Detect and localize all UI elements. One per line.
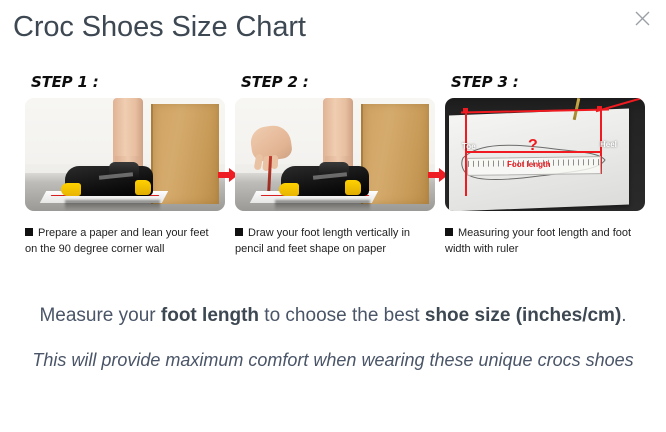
step-2-caption: Draw your foot length vertically in penc… <box>235 225 433 257</box>
steps-row: STEP 1 : Prepare a paper and lean your f… <box>0 72 666 292</box>
summary-bold-foot-length: foot length <box>161 305 259 326</box>
step-3-label: STEP 3 : <box>451 72 645 92</box>
label-heel: Heel <box>600 140 617 149</box>
step-3-caption: Measuring your foot length and foot widt… <box>445 225 643 257</box>
note-line: This will provide maximum comfort when w… <box>0 345 666 375</box>
summary-part-3: . <box>621 305 626 326</box>
bullet-icon <box>235 228 243 236</box>
step-2-caption-text: Draw your foot length vertically in penc… <box>235 227 410 255</box>
page-title: Croc Shoes Size Chart <box>13 11 306 44</box>
summary-part-1: Measure your <box>39 305 160 326</box>
step-1-label: STEP 1 : <box>31 72 225 92</box>
bullet-icon <box>445 228 453 236</box>
step-1-caption: Prepare a paper and lean your feet on th… <box>25 225 223 257</box>
step-3-photo: Toe Heel ? Foot length <box>445 98 645 211</box>
summary-line: Measure your foot length to choose the b… <box>0 305 666 327</box>
label-toe: Toe <box>462 142 476 151</box>
summary-bold-shoe-size: shoe size (inches/cm) <box>425 305 621 326</box>
step-1-caption-text: Prepare a paper and lean your feet on th… <box>25 227 209 255</box>
step-2-photo <box>235 98 435 211</box>
label-foot-length: Foot length <box>507 160 551 169</box>
step-1-photo <box>25 98 225 211</box>
label-question: ? <box>528 138 538 154</box>
step-3: STEP 3 : Toe Heel ? Foot length Measurin… <box>445 72 645 257</box>
modal-header: Croc Shoes Size Chart <box>0 0 666 62</box>
summary-part-2: to choose the best <box>259 305 425 326</box>
step-3-caption-text: Measuring your foot length and foot widt… <box>445 227 631 255</box>
bullet-icon <box>25 228 33 236</box>
step-1: STEP 1 : Prepare a paper and lean your f… <box>25 72 225 257</box>
close-icon <box>634 10 651 27</box>
step-2-label: STEP 2 : <box>241 72 435 92</box>
close-button[interactable] <box>628 4 656 32</box>
step-2: STEP 2 : Draw your foot length verticall… <box>235 72 435 257</box>
